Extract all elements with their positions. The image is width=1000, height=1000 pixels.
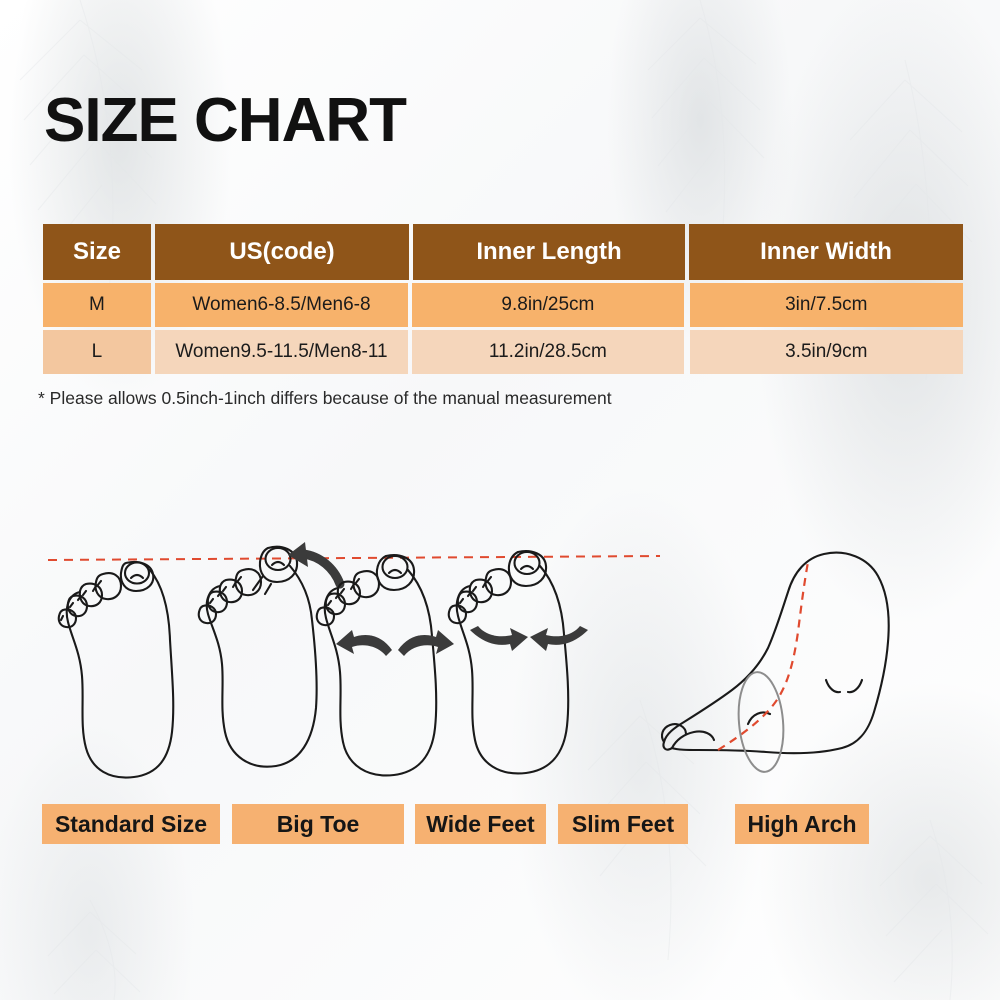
feet-diagram-svg	[0, 500, 1000, 810]
cell-us-code: Women9.5-11.5/Men8-11	[155, 330, 408, 374]
foot-big-toe-icon	[199, 547, 317, 767]
foot-type-label-wide-feet: Wide Feet	[415, 804, 546, 844]
column-header-inner-width: Inner Width	[689, 224, 963, 280]
foot-type-label-row: Standard Size Big Toe Wide Feet Slim Fee…	[0, 804, 1000, 846]
foot-wide-icon	[317, 555, 436, 775]
page-title: SIZE CHART	[44, 90, 406, 152]
column-header-inner-length: Inner Length	[413, 224, 685, 280]
foot-type-label-big-toe: Big Toe	[232, 804, 404, 844]
foot-type-illustrations	[0, 500, 1000, 810]
foot-slim-icon	[449, 551, 568, 773]
cell-us-code: Women6-8.5/Men6-8	[155, 283, 408, 327]
cell-inner-width: 3.5in/9cm	[690, 330, 963, 374]
slim-feet-arrows-icon	[470, 626, 588, 651]
table-row: M Women6-8.5/Men6-8 9.8in/25cm 3in/7.5cm	[43, 283, 963, 327]
cell-inner-length: 11.2in/28.5cm	[412, 330, 683, 374]
wide-feet-arrows-icon	[336, 630, 454, 656]
foot-type-label-high-arch: High Arch	[735, 804, 869, 844]
size-chart-page: SIZE CHART Size US(code) Inner Length In…	[0, 0, 1000, 1000]
cell-inner-length: 9.8in/25cm	[412, 283, 683, 327]
column-header-us-code: US(code)	[155, 224, 409, 280]
column-header-size: Size	[43, 224, 151, 280]
cell-size: L	[43, 330, 151, 374]
big-toe-arrow-icon	[303, 554, 340, 584]
cell-inner-width: 3in/7.5cm	[690, 283, 963, 327]
measurement-disclaimer: * Please allows 0.5inch-1inch differs be…	[38, 388, 612, 409]
cell-size: M	[43, 283, 151, 327]
size-table: Size US(code) Inner Length Inner Width M…	[43, 224, 963, 374]
foot-top-view-icon	[59, 562, 174, 777]
arch-measure-loop-icon	[735, 670, 788, 773]
foot-type-label-standard-size: Standard Size	[42, 804, 220, 844]
table-row: L Women9.5-11.5/Men8-11 11.2in/28.5cm 3.…	[43, 330, 963, 374]
table-header-row: Size US(code) Inner Length Inner Width	[43, 224, 963, 280]
foot-side-profile-icon	[662, 553, 889, 754]
foot-type-label-slim-feet: Slim Feet	[558, 804, 688, 844]
alignment-dashed-line	[48, 556, 660, 560]
